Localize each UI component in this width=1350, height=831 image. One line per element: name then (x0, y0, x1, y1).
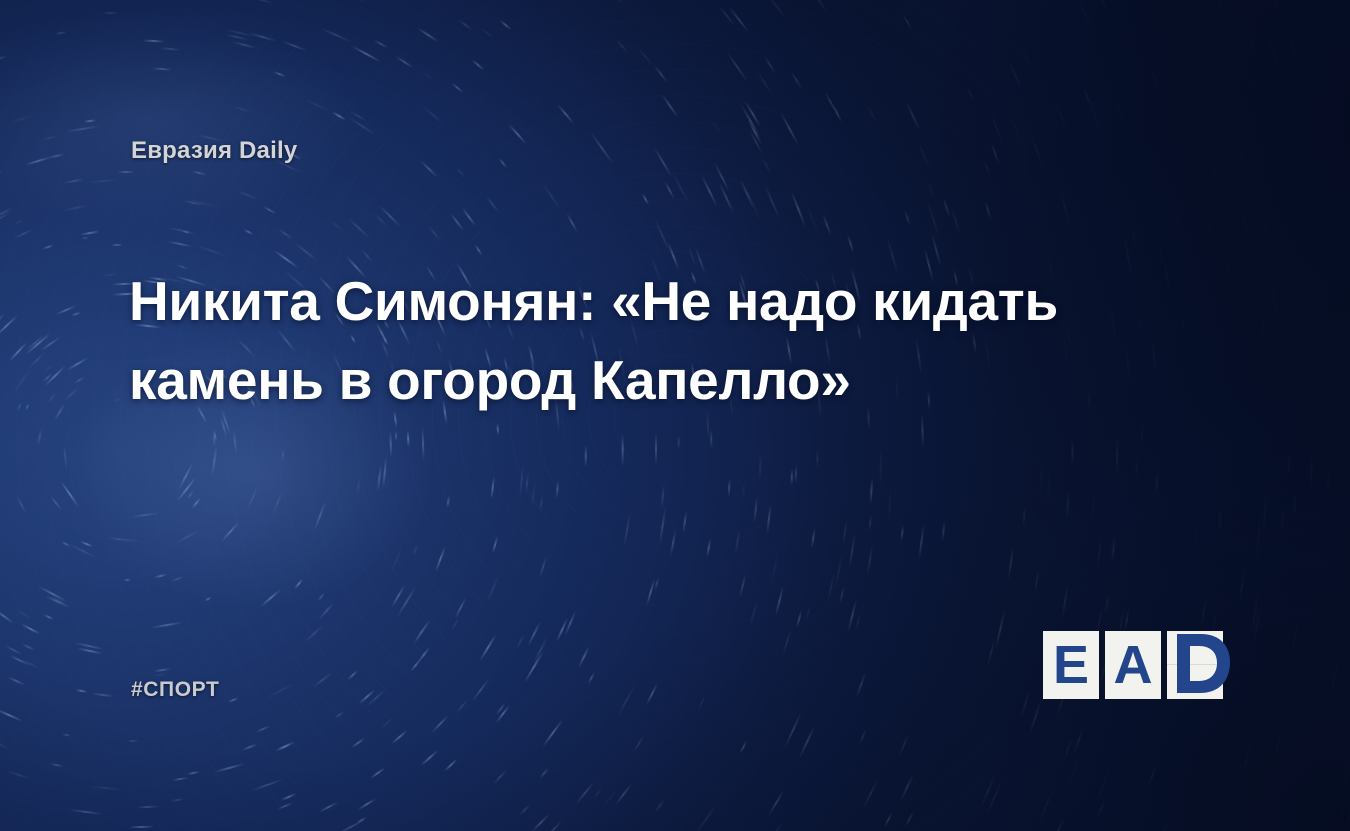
page-title: Никита Симонян: «Не надо кидать камень в… (129, 262, 1089, 420)
logo-letter-d (1167, 628, 1241, 702)
ead-logo: E A (1043, 631, 1223, 699)
category-tag: #СПОРТ (131, 678, 219, 702)
brand-label: Евразия Daily (131, 137, 297, 165)
logo-letter-e: E (1043, 631, 1099, 699)
news-cover-card: Евразия Daily Никита Симонян: «Не надо к… (0, 0, 1350, 831)
logo-letter-a: A (1105, 631, 1161, 699)
